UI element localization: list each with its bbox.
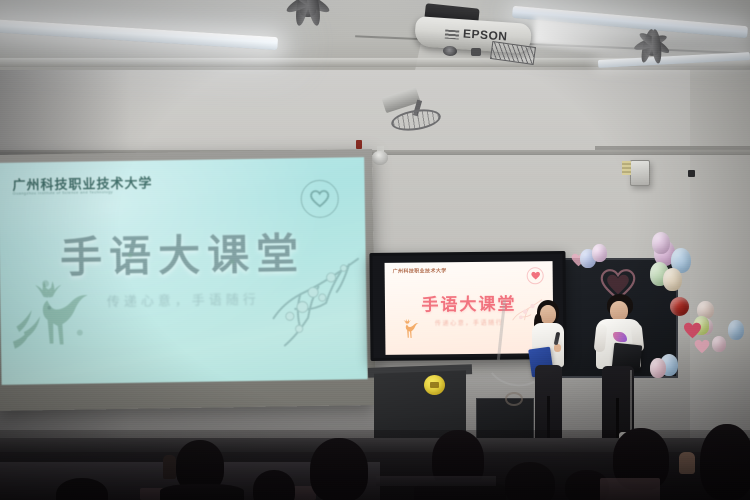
balloon-icon <box>592 244 607 262</box>
balloon-icon <box>663 268 682 291</box>
pants-stripe <box>630 370 632 432</box>
audience-head <box>505 462 555 500</box>
presenter-head <box>540 305 556 324</box>
cable-loop <box>505 392 523 406</box>
audience-head <box>700 424 750 500</box>
heart-icon <box>527 267 544 284</box>
slide-university-name-en: Guangzhou Institute of Science and Techn… <box>13 189 113 196</box>
balloon-icon <box>670 297 689 316</box>
classroom-photo: EPSON 广州科技职业技术大学 Guangzhou Institute of … <box>0 0 750 500</box>
balloon-face-icon <box>430 382 439 388</box>
presenter-leg-gap <box>547 396 550 440</box>
projector-foot <box>471 48 481 56</box>
deer-silhouette-icon <box>397 313 423 348</box>
wall-fixture-red <box>356 140 362 149</box>
heart-icon <box>300 180 339 219</box>
wall-speaker-icon <box>630 160 650 186</box>
audience-head <box>253 470 295 500</box>
balloon-icon <box>652 232 670 254</box>
audience-clothing-pink <box>600 478 660 500</box>
deer-silhouette-icon <box>12 268 106 366</box>
shirt-print-icon <box>613 332 627 342</box>
ceiling-fan-icon <box>258 0 358 34</box>
projector-icon: EPSON <box>415 8 545 60</box>
camera-dome <box>372 151 388 165</box>
balloon-icon <box>650 358 666 378</box>
balloon-icon <box>712 336 726 352</box>
petal-dot <box>77 330 83 336</box>
projector-lens <box>443 46 458 57</box>
audience-shoulders <box>160 484 244 500</box>
projector-logo-mark <box>445 30 460 40</box>
presenter-hand <box>554 344 561 352</box>
presenter-male <box>594 294 646 442</box>
desk-row <box>376 476 496 486</box>
audience-raised-hand <box>679 452 695 474</box>
petal-dot <box>128 253 133 258</box>
projection-screen: 广州科技职业技术大学 Guangzhou Institute of Scienc… <box>0 149 376 411</box>
petal-dot <box>42 280 49 287</box>
heart-balloon-icon <box>694 339 710 359</box>
projector-brand-label: EPSON <box>463 26 508 43</box>
fan-cage <box>390 106 443 134</box>
plum-branch-icon <box>262 249 364 366</box>
wall-rail-secondary <box>595 146 750 150</box>
presenter-head <box>610 301 628 321</box>
wall-mount-dot <box>688 170 695 177</box>
security-camera-icon <box>372 148 390 166</box>
petal-dot <box>230 259 235 264</box>
balloon-icon <box>728 320 744 340</box>
wall-fan-icon <box>385 100 443 140</box>
projection-screen-surface: 广州科技职业技术大学 Guangzhou Institute of Scienc… <box>0 157 368 385</box>
audience-raised-hand <box>163 455 176 479</box>
audience-head <box>310 438 368 500</box>
tv-university-name: 广州科技职业技术大学 <box>393 267 447 275</box>
